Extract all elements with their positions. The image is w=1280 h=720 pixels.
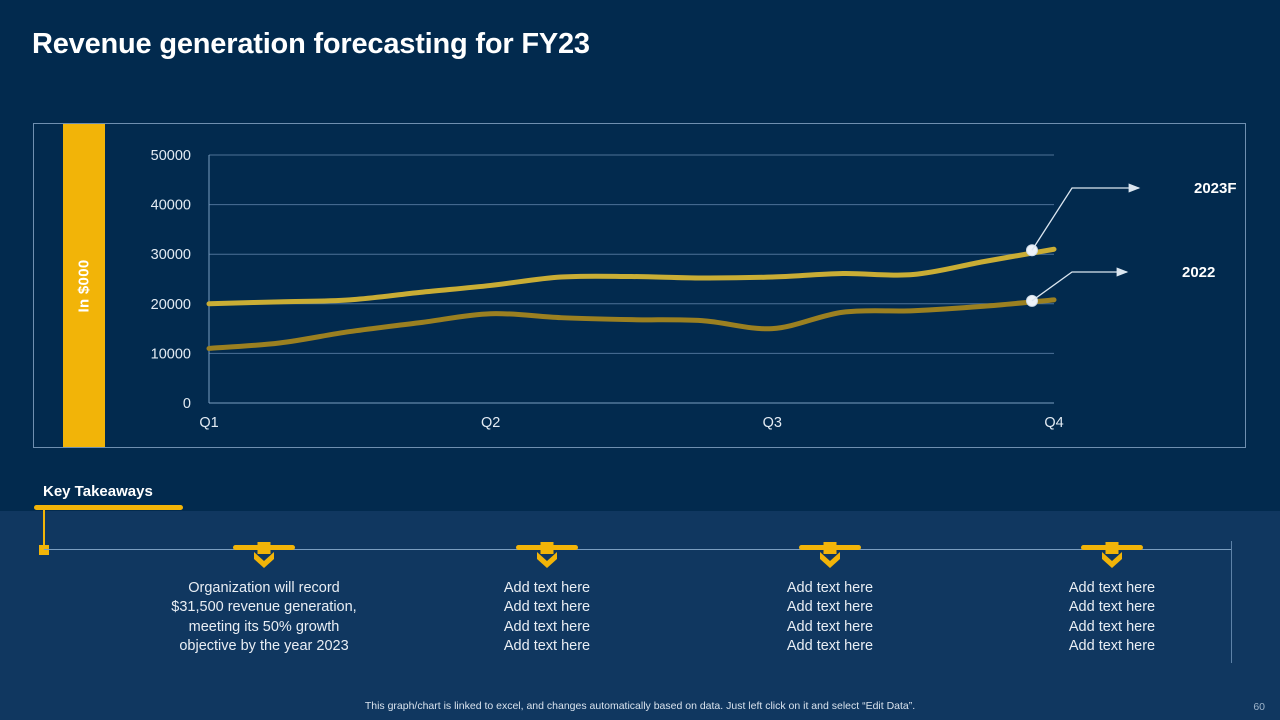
- chart-endpoint-markers: [1027, 245, 1038, 307]
- takeaways-timeline: [44, 549, 1232, 550]
- chevron-down-icon: [820, 552, 840, 574]
- y-tick-label: 40000: [151, 198, 191, 214]
- y-axis-tick-labels: 01000020000300004000050000: [151, 148, 191, 412]
- y-tick-label: 20000: [151, 297, 191, 313]
- takeaway-text-line: Add text here: [417, 598, 677, 617]
- callout-label-2023f: 2023F: [1194, 180, 1237, 197]
- chevron-down-icon: [254, 552, 274, 574]
- x-axis-tick-labels: Q1Q2Q3Q4: [199, 415, 1063, 431]
- page-number: 60: [1253, 701, 1265, 713]
- slide-root: Revenue generation forecasting for FY23 …: [0, 0, 1280, 720]
- takeaway-text-line: $31,500 revenue generation,: [134, 598, 394, 617]
- takeaway-text-line: meeting its 50% growth: [134, 618, 394, 637]
- takeaway-text-line: Add text here: [700, 618, 960, 637]
- y-tick-label: 50000: [151, 148, 191, 164]
- chart-plot-area: 01000020000300004000050000 Q1Q2Q3Q4 2023…: [34, 124, 1247, 447]
- takeaway-text: Add text hereAdd text hereAdd text hereA…: [982, 579, 1242, 656]
- footer-note: This graph/chart is linked to excel, and…: [0, 700, 1280, 712]
- takeaway-text-line: Add text here: [700, 598, 960, 617]
- y-tick-label: 10000: [151, 346, 191, 362]
- takeaway-text-line: Add text here: [700, 637, 960, 656]
- revenue-line-chart: 01000020000300004000050000 Q1Q2Q3Q4 2023…: [34, 124, 1247, 447]
- takeaway-text-line: Add text here: [417, 637, 677, 656]
- takeaway-text: Organization will record$31,500 revenue …: [134, 579, 394, 656]
- key-takeaways-heading: Key Takeaways: [43, 483, 153, 500]
- takeaway-text-line: Add text here: [417, 579, 677, 598]
- page-title: Revenue generation forecasting for FY23: [32, 28, 590, 61]
- takeaway-text-line: Add text here: [982, 618, 1242, 637]
- x-tick-label: Q3: [763, 415, 782, 431]
- series-line-2023f: [209, 249, 1054, 304]
- chart-series-lines: [209, 249, 1054, 348]
- takeaway-text-line: Add text here: [417, 618, 677, 637]
- x-tick-label: Q2: [481, 415, 500, 431]
- takeaway-text-line: Add text here: [982, 598, 1242, 617]
- takeaway-text-line: Add text here: [982, 637, 1242, 656]
- x-tick-label: Q4: [1044, 415, 1063, 431]
- takeaway-text-line: Add text here: [700, 579, 960, 598]
- timeline-origin-marker: [39, 545, 49, 555]
- chart-panel[interactable]: In $000 01000020000300004000050000 Q1Q2Q…: [33, 123, 1246, 448]
- key-takeaways-underline: [34, 505, 183, 510]
- takeaway-text-line: Organization will record: [134, 579, 394, 598]
- y-tick-label: 0: [183, 396, 191, 412]
- takeaway-text-line: objective by the year 2023: [134, 637, 394, 656]
- series-line-2022: [209, 300, 1054, 349]
- takeaway-text: Add text hereAdd text hereAdd text hereA…: [417, 579, 677, 656]
- callout-leader-2022: [1032, 272, 1127, 301]
- chevron-down-icon: [1102, 552, 1122, 574]
- chart-callouts: 2023F2022: [1032, 180, 1237, 301]
- y-tick-label: 30000: [151, 247, 191, 263]
- callout-leader-2023f: [1032, 188, 1139, 250]
- key-takeaways-connector-line: [43, 508, 45, 550]
- x-tick-label: Q1: [199, 415, 218, 431]
- takeaway-text: Add text hereAdd text hereAdd text hereA…: [700, 579, 960, 656]
- callout-label-2022: 2022: [1182, 264, 1215, 281]
- chevron-down-icon: [537, 552, 557, 574]
- takeaway-text-line: Add text here: [982, 579, 1242, 598]
